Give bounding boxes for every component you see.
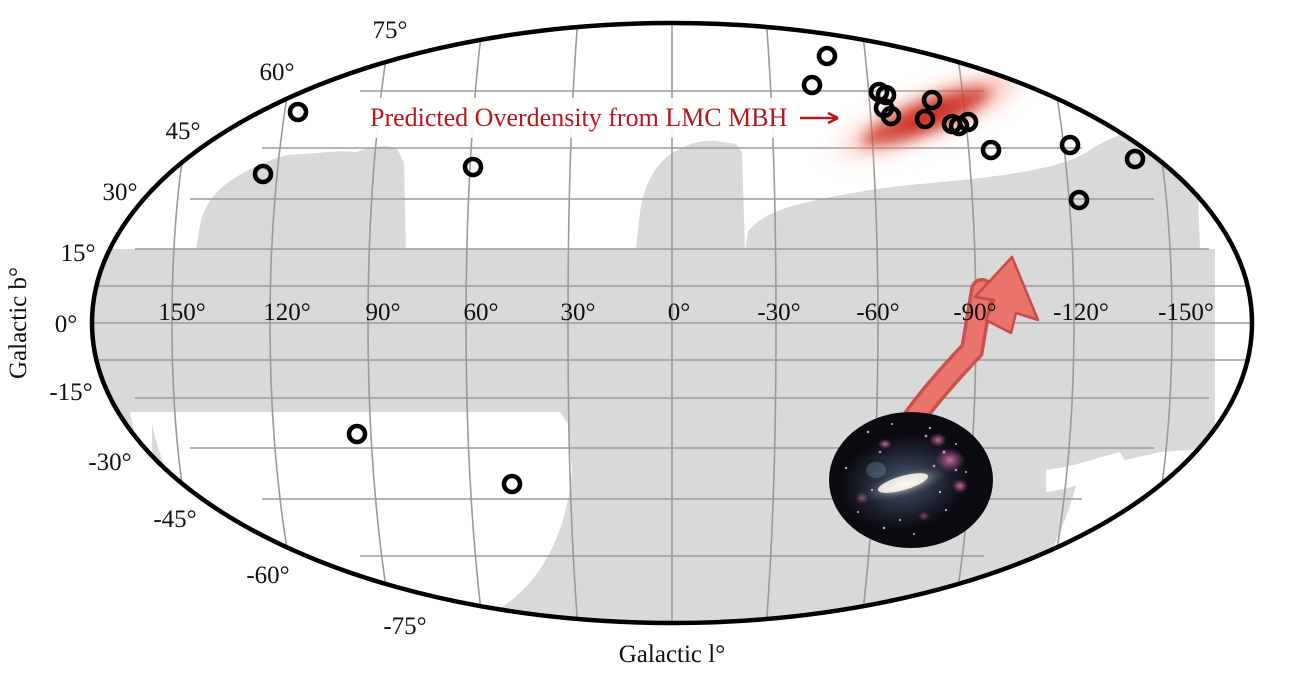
lat-tick-0: 0° bbox=[55, 311, 78, 338]
lon-tick-0: 0° bbox=[668, 299, 691, 326]
lat-tick-m75: -75° bbox=[383, 613, 426, 640]
lat-tick-60: 60° bbox=[260, 59, 295, 86]
lon-tick-m120: -120° bbox=[1053, 299, 1109, 326]
mollweide-projection: Predicted Overdensity from LMC MBH 75° 6… bbox=[0, 0, 1292, 679]
lon-tick-m90: -90° bbox=[953, 299, 996, 326]
lon-tick-m60: -60° bbox=[856, 299, 899, 326]
x-axis-title: Galactic l° bbox=[619, 641, 725, 668]
lat-tick-45: 45° bbox=[166, 118, 201, 145]
overdensity-annotation-label: Predicted Overdensity from LMC MBH bbox=[370, 103, 788, 132]
lat-tick-m30: -30° bbox=[88, 449, 131, 476]
lon-tick-150: 150° bbox=[158, 299, 206, 326]
lmc-galaxy-image bbox=[829, 412, 993, 548]
lon-tick-60: 60° bbox=[464, 299, 499, 326]
lat-tick-75: 75° bbox=[373, 17, 408, 44]
lon-tick-m150: -150° bbox=[1158, 299, 1214, 326]
lat-tick-m60: -60° bbox=[246, 562, 289, 589]
lat-tick-m45: -45° bbox=[153, 506, 196, 533]
allsky-chart: Predicted Overdensity from LMC MBH 75° 6… bbox=[0, 0, 1292, 679]
lat-tick-15: 15° bbox=[61, 240, 96, 267]
lon-tick-30: 30° bbox=[561, 299, 596, 326]
y-axis-title: Galactic b° bbox=[5, 267, 32, 379]
lon-tick-m30: -30° bbox=[757, 299, 800, 326]
lat-tick-m15: -15° bbox=[49, 379, 92, 406]
lat-tick-30: 30° bbox=[103, 179, 138, 206]
lon-tick-90: 90° bbox=[366, 299, 401, 326]
lon-tick-120: 120° bbox=[263, 299, 311, 326]
